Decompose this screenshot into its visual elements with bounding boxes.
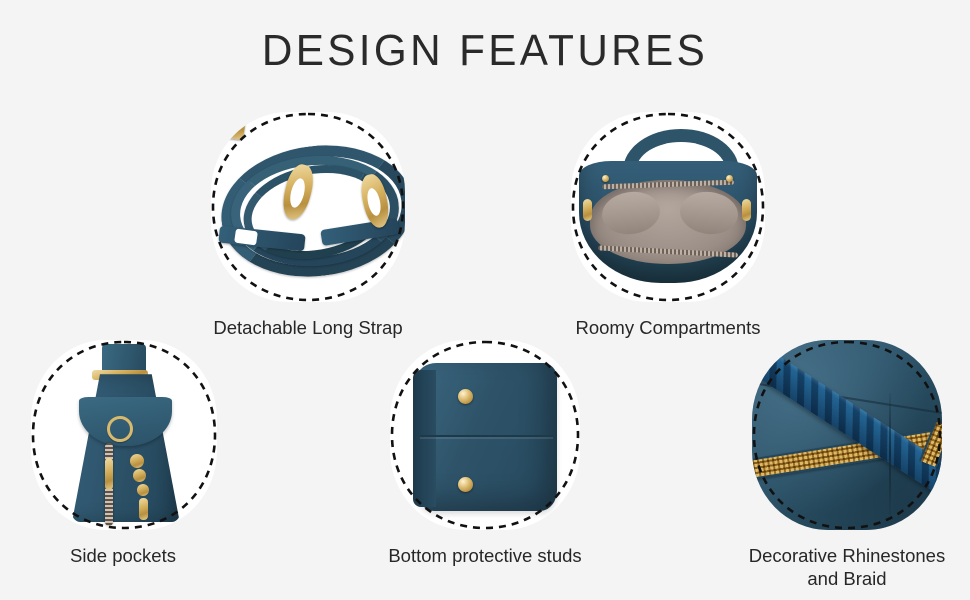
panel-photo-bottom-protective-studs [390,340,580,530]
caption-side-pockets: Side pockets [0,544,271,567]
caption-bottom-protective-studs: Bottom protective studs [335,544,635,567]
panel-photo-side-pockets [31,340,217,530]
panel-photo-decorative-rhinestones-and-braid [752,340,942,530]
bag-bottom-side-edge [413,370,436,507]
feature-panel-roomy-compartments[interactable] [571,112,765,302]
strap-photo [211,112,405,302]
side-hardware-left [583,199,592,221]
feature-panel-bottom-protective-studs[interactable] [390,340,580,530]
feature-panel-side-pockets[interactable] [31,340,217,530]
vertical-edge-seam [889,393,891,515]
strap-rivet-left [602,175,609,182]
side-hardware-right [742,199,751,221]
side-pocket-photo [31,340,217,530]
caption-decorative-rhinestones-and-braid: Decorative Rhinestones and Braid [697,544,970,590]
bag-interior-photo [571,112,765,302]
charm-tassel [139,498,148,520]
charm-link-1 [130,454,144,468]
bottom-centre-seam [420,435,553,437]
strap-slider-buckle-hole [234,229,258,246]
page-title: DESIGN FEATURES [19,26,950,76]
caption-roomy-compartments: Roomy Compartments [515,316,821,339]
zipper-pull [105,458,113,490]
bag-bottom-photo [390,340,580,530]
strap-rivet-right [726,175,733,182]
panel-photo-roomy-compartments [571,112,765,302]
caption-detachable-long-strap: Detachable Long Strap [155,316,461,339]
strap-slider-buckle [211,112,247,140]
panel-photo-detachable-long-strap [211,112,405,302]
feature-panel-decorative-rhinestones-and-braid[interactable] [752,340,942,530]
feature-panel-detachable-long-strap[interactable] [211,112,405,302]
rhinestone-braid-photo [752,340,942,530]
